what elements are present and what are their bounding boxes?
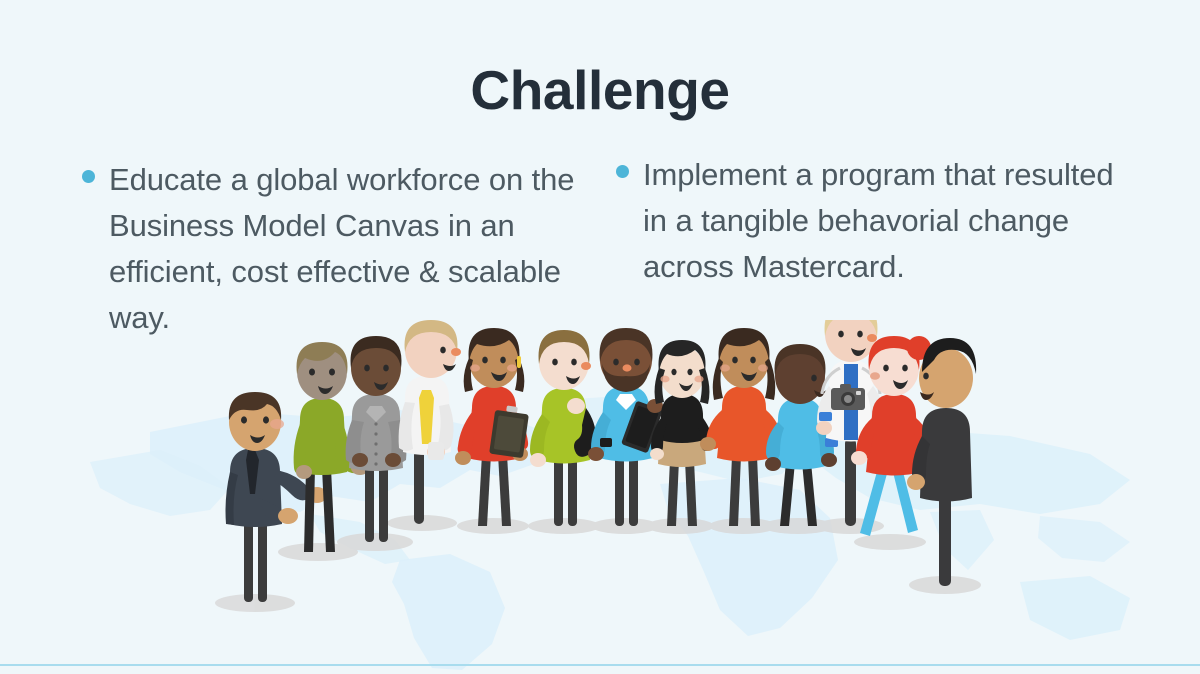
bullet-column-left: Educate a global workforce on the Busine… <box>82 157 587 341</box>
person-man-in-gray-shirt <box>346 336 407 542</box>
page-title: Challenge <box>0 62 1200 120</box>
slide-canvas: Challenge Educate a global workforce on … <box>0 0 1200 674</box>
person-bearded-man-with-tablet <box>588 328 663 526</box>
clipboard-icon <box>489 405 529 458</box>
person-blond-man-with-yellow-tie <box>399 320 461 524</box>
person-man-in-green-sweater <box>530 330 596 526</box>
bullet-column-right: Implement a program that resulted in a t… <box>616 152 1136 290</box>
person-woman-in-black-top <box>650 340 713 526</box>
bottom-divider <box>0 664 1200 666</box>
person-woman-in-orange-dress <box>700 328 786 526</box>
bullet-dot-icon <box>616 165 629 178</box>
bullet-dot-icon <box>82 170 95 183</box>
person-woman-with-clipboard <box>455 328 529 526</box>
list-item: Educate a global workforce on the Busine… <box>82 157 587 341</box>
crowd-illustration <box>200 320 990 620</box>
bullet-text: Educate a global workforce on the Busine… <box>109 162 574 335</box>
bullet-text: Implement a program that resulted in a t… <box>643 157 1114 284</box>
list-item: Implement a program that resulted in a t… <box>616 152 1136 290</box>
